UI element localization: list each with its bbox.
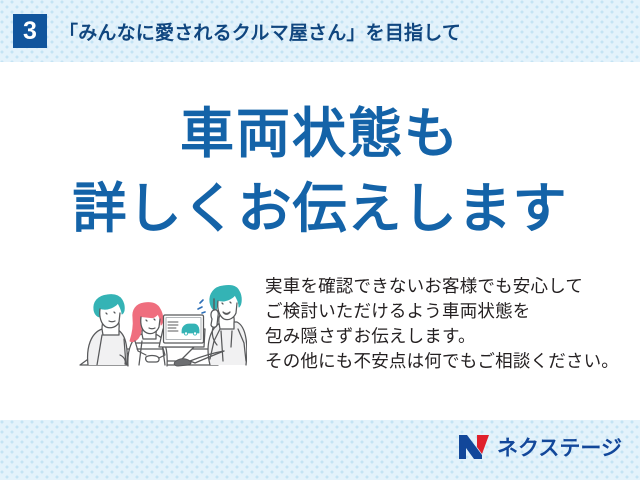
- body-line-2: ご検討いただけるよう車両状態を: [265, 300, 630, 325]
- headline-line-1: 車両状態も: [0, 96, 640, 171]
- headline: 車両状態も 詳しくお伝えします: [0, 96, 640, 246]
- body-line-1: 実車を確認できないお客様でも安心して: [265, 275, 630, 300]
- brand-name: ネクステージ: [497, 432, 622, 462]
- step-number-badge: 3: [13, 14, 47, 48]
- advertisement-banner: 3 「みんなに愛されるクルマ屋さん」を目指して 車両状態も 詳しくお伝えします: [0, 0, 640, 480]
- header-title: 「みんなに愛されるクルマ屋さん」を目指して: [59, 18, 461, 45]
- lower-content: 実車を確認できないお客様でも安心して ご検討いただけるよう車両状態を 包み隠さず…: [0, 267, 640, 397]
- nextage-n-mark-icon: [458, 434, 490, 460]
- brand-logo: ネクステージ: [458, 432, 622, 462]
- consultation-illustration-svg: [62, 269, 247, 379]
- body-line-4: その他にも不安点は何でもご相談ください。: [265, 350, 630, 375]
- content-panel: 車両状態も 詳しくお伝えします: [0, 62, 640, 420]
- headline-line-2: 詳しくお伝えします: [0, 171, 640, 246]
- consultation-illustration: [62, 269, 247, 379]
- body-text: 実車を確認できないお客様でも安心して ご検討いただけるよう車両状態を 包み隠さず…: [265, 275, 630, 375]
- header-bar: 3 「みんなに愛されるクルマ屋さん」を目指して: [0, 0, 640, 62]
- body-line-3: 包み隠さずお伝えします。: [265, 325, 630, 350]
- footer-bar: ネクステージ: [0, 420, 640, 480]
